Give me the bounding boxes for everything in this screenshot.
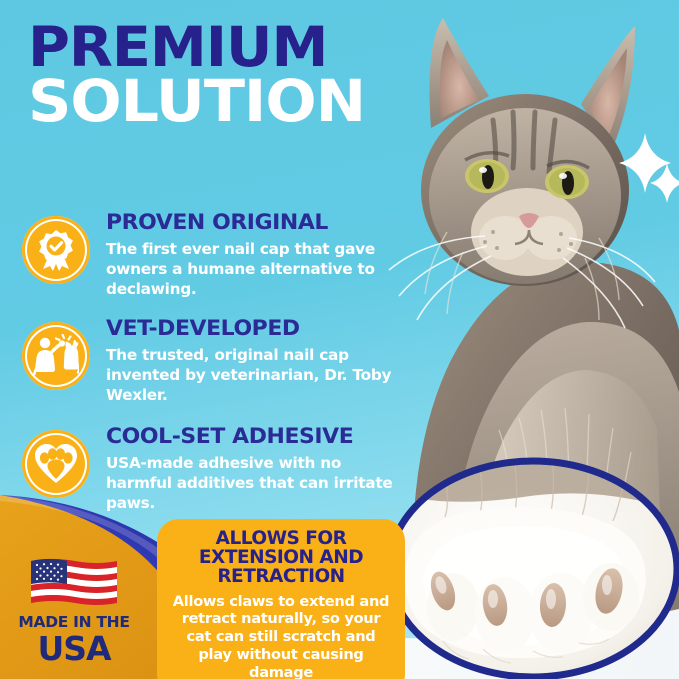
callout-title: ALLOWS FOR EXTENSION AND RETRACTION bbox=[171, 530, 391, 587]
cat-paw-closeup-photo bbox=[383, 455, 679, 679]
feature-proven-original: PROVEN ORIGINAL The first ever nail cap … bbox=[22, 212, 412, 310]
feature-title: VET-DEVELOPED bbox=[106, 318, 418, 340]
product-infographic: PREMIUM SOLUTION PROVEN ORIGINAL The fir… bbox=[0, 0, 679, 679]
usa-flag-icon bbox=[29, 557, 119, 609]
extension-retraction-callout: ALLOWS FOR EXTENSION AND RETRACTION Allo… bbox=[157, 519, 405, 679]
made-in-usa-line-1: MADE IN THE bbox=[14, 615, 134, 631]
headline-line-1: PREMIUM bbox=[28, 22, 423, 73]
award-ribbon-icon bbox=[22, 216, 90, 284]
headline-line-2: SOLUTION bbox=[28, 75, 423, 128]
feature-title: PROVEN ORIGINAL bbox=[106, 212, 418, 234]
made-in-usa-badge: MADE IN THE USA bbox=[14, 557, 134, 666]
feature-body: The first ever nail cap that gave owners… bbox=[106, 239, 406, 300]
made-in-usa-line-2: USA bbox=[14, 632, 134, 665]
callout-body: Allows claws to extend and retract natur… bbox=[171, 593, 391, 679]
headline: PREMIUM SOLUTION bbox=[28, 22, 408, 128]
